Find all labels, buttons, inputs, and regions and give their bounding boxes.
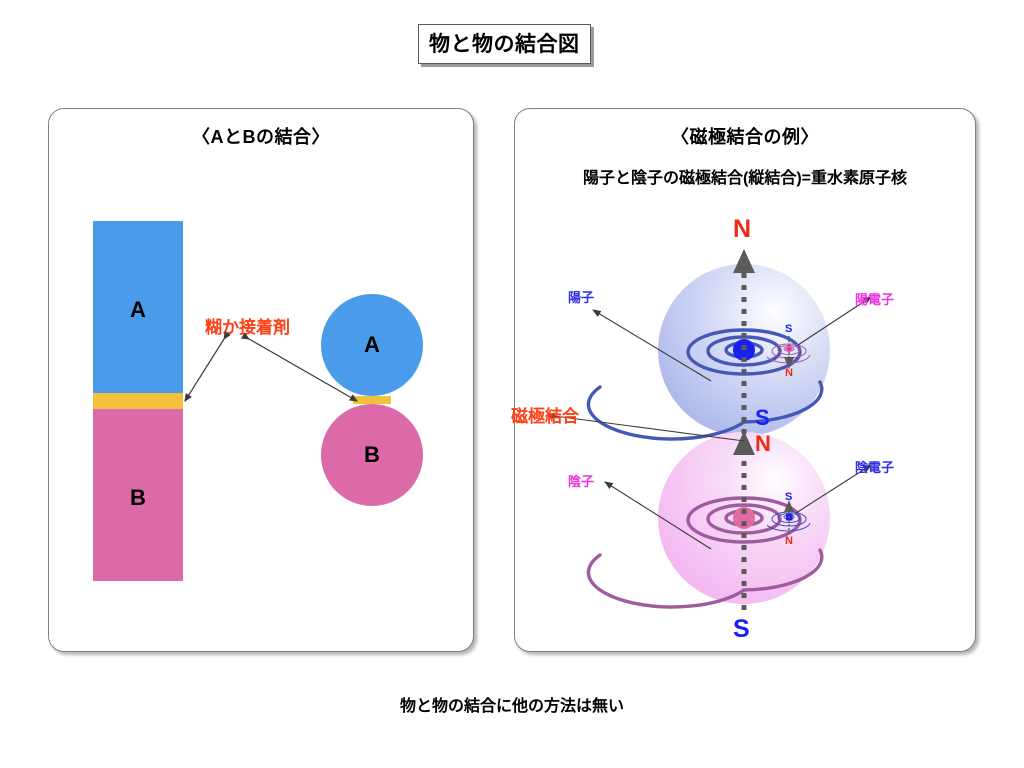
negatron-orbit-spiral [588,498,821,607]
negative-electron-pole-n: N [785,535,793,547]
pole-label-junction-lower: N [755,431,771,457]
pole-label-bottom: S [733,615,750,644]
glue-leader-bar [185,339,224,401]
positron-label: 陽電子 [855,289,894,308]
bar-a: A [93,221,183,393]
bottom-caption: 物と物の結合に他の方法は無い [0,692,1024,716]
axis-arrow-top [733,249,755,273]
positron-pole-s: S [785,323,792,335]
positron-core [786,346,793,353]
proton-sphere [658,264,830,436]
negative-electron-core [786,514,793,521]
circle-b-label: B [321,404,423,506]
positron-group [767,336,810,369]
bar-a-label: A [93,297,183,323]
diagram-page: 物と物の結合図 〈AとBの結合〉 A B A B 糊か接着剤 [0,0,1024,768]
right-panel-subtitle: 陽子と陰子の磁極結合(縦結合)=重水素原子核 [515,164,975,188]
right-panel: 〈磁極結合の例〉 陽子と陰子の磁極結合(縦結合)=重水素原子核 [514,108,976,652]
left-panel-title: 〈AとBの結合〉 [49,123,473,149]
negatron-core [733,507,755,529]
magnetic-bond-illustration [515,109,975,651]
negative-electron-pole-s: S [785,491,792,503]
pole-label-junction-upper: S [755,405,770,431]
left-panel: 〈AとBの結合〉 A B A B 糊か接着剤 [48,108,474,652]
positron-pole-n: N [785,367,793,379]
page-title: 物と物の結合図 [418,24,591,64]
proton-label: 陽子 [568,287,594,306]
negatron-sphere [658,432,830,604]
axis-arrow-junction [733,431,755,455]
negatron-label: 陰子 [568,471,594,490]
bond-label: 磁極結合 [511,402,579,427]
proton-leader [593,310,711,381]
negatron-leader [605,482,711,549]
proton-orbit-spiral [588,330,821,439]
circle-a-label: A [321,294,423,396]
bar-glue-layer [93,393,183,409]
pole-label-top: N [733,215,751,244]
bar-b: B [93,409,183,581]
circle-b: B [321,404,423,506]
negative-electron-group [767,500,810,533]
right-panel-title: 〈磁極結合の例〉 [515,123,975,149]
circle-glue-layer [353,396,391,404]
bar-b-label: B [93,485,183,511]
glue-label: 糊か接着剤 [205,313,290,338]
circle-a: A [321,294,423,396]
proton-core [733,339,755,361]
negative-electron-label: 陰電子 [855,457,894,476]
